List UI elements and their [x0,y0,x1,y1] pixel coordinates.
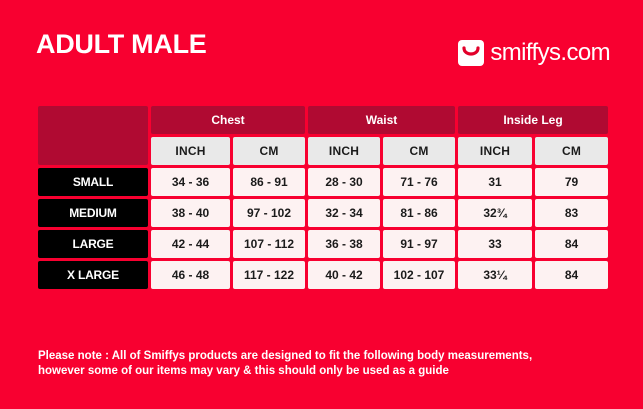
unit-header-waist-inch: INCH [308,137,380,165]
disclaimer-line-2: however some of our items may vary & thi… [38,364,598,379]
cell-medium-chest-cm: 97 - 102 [233,199,305,227]
size-chart-table: Chest Waist Inside Leg INCH CM INCH CM I… [35,103,611,292]
unit-header-chest-inch: INCH [151,137,230,165]
brand-logo: smiffys.com [458,40,610,66]
group-header-waist: Waist [308,106,455,134]
cell-large-waist-inch: 36 - 38 [308,230,380,258]
cell-large-chest-cm: 107 - 112 [233,230,305,258]
brand-name: smiffys.com [490,41,610,65]
cell-large-waist-cm: 91 - 97 [383,230,455,258]
table-corner-cell [38,106,148,165]
cell-x-large-inside-leg-cm: 84 [535,261,608,289]
table-group-header-row: Chest Waist Inside Leg [38,106,608,134]
cell-medium-waist-cm: 81 - 86 [383,199,455,227]
cell-x-large-chest-inch: 46 - 48 [151,261,230,289]
cell-x-large-inside-leg-inch: 33¼ [458,261,532,289]
cell-large-chest-inch: 42 - 44 [151,230,230,258]
cell-small-chest-cm: 86 - 91 [233,168,305,196]
cell-medium-inside-leg-cm: 83 [535,199,608,227]
group-header-chest: Chest [151,106,305,134]
table-row: X LARGE 46 - 48 117 - 122 40 - 42 102 - … [38,261,608,289]
cell-x-large-waist-cm: 102 - 107 [383,261,455,289]
group-header-inside-leg: Inside Leg [458,106,608,134]
unit-header-inside-leg-cm: CM [535,137,608,165]
cell-large-inside-leg-cm: 84 [535,230,608,258]
row-label-small: SMALL [38,168,148,196]
cell-small-chest-inch: 34 - 36 [151,168,230,196]
row-label-medium: MEDIUM [38,199,148,227]
cell-x-large-chest-cm: 117 - 122 [233,261,305,289]
cell-small-waist-inch: 28 - 30 [308,168,380,196]
page-title: ADULT MALE [36,31,206,58]
cell-medium-chest-inch: 38 - 40 [151,199,230,227]
table-row: MEDIUM 38 - 40 97 - 102 32 - 34 81 - 86 … [38,199,608,227]
table-row: SMALL 34 - 36 86 - 91 28 - 30 71 - 76 31… [38,168,608,196]
unit-header-waist-cm: CM [383,137,455,165]
unit-header-inside-leg-inch: INCH [458,137,532,165]
cell-small-inside-leg-cm: 79 [535,168,608,196]
page-header: ADULT MALE smiffys.com [0,0,643,92]
disclaimer-line-1: Please note : All of Smiffys products ar… [38,349,598,364]
cell-small-inside-leg-inch: 31 [458,168,532,196]
row-label-large: LARGE [38,230,148,258]
cell-large-inside-leg-inch: 33 [458,230,532,258]
cell-x-large-waist-inch: 40 - 42 [308,261,380,289]
unit-header-chest-cm: CM [233,137,305,165]
smile-curve-icon [458,40,484,66]
table-row: LARGE 42 - 44 107 - 112 36 - 38 91 - 97 … [38,230,608,258]
row-label-x-large: X LARGE [38,261,148,289]
cell-medium-waist-inch: 32 - 34 [308,199,380,227]
disclaimer-note: Please note : All of Smiffys products ar… [38,349,598,379]
cell-medium-inside-leg-inch: 32¾ [458,199,532,227]
cell-small-waist-cm: 71 - 76 [383,168,455,196]
